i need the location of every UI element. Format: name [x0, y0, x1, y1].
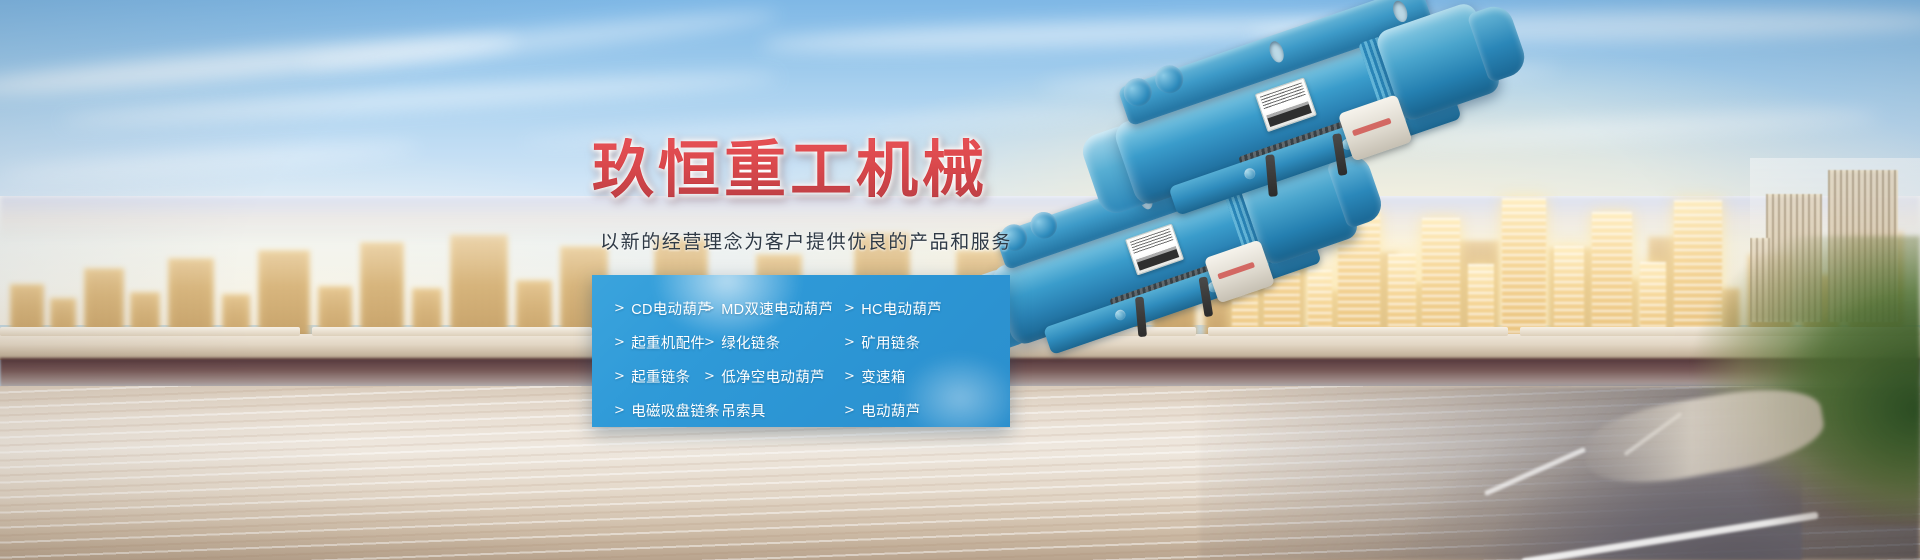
product-link-cd-hoist[interactable]: > CD电动葫芦	[592, 298, 704, 319]
product-link-slings[interactable]: > 吊索具	[704, 400, 844, 421]
product-link-md-hoist[interactable]: > MD双速电动葫芦	[704, 298, 844, 319]
chevron-right-icon: >	[704, 369, 715, 384]
product-link-electric-hoist[interactable]: > 电动葫芦	[844, 400, 994, 421]
product-link-lifting-chain[interactable]: > 起重链条	[592, 366, 704, 387]
chevron-right-icon: >	[844, 335, 855, 350]
product-row: > 起重机配件 > 绿化链条 > 矿用链条	[592, 325, 1010, 359]
chevron-right-icon: >	[614, 403, 625, 418]
chevron-right-icon: >	[614, 335, 625, 350]
chevron-right-icon: >	[704, 335, 715, 350]
product-label: 吊索具	[721, 400, 765, 421]
product-label: 起重链条	[631, 366, 690, 387]
product-label: HC电动葫芦	[861, 298, 942, 319]
product-label: 低净空电动葫芦	[721, 366, 825, 387]
product-row: > CD电动葫芦 > MD双速电动葫芦 > HC电动葫芦	[592, 291, 1010, 325]
product-link-low-headroom-hoist[interactable]: > 低净空电动葫芦	[704, 366, 844, 387]
product-link-gearbox[interactable]: > 变速箱	[844, 366, 994, 387]
chevron-right-icon: >	[614, 369, 625, 384]
product-label: 矿用链条	[861, 332, 920, 353]
chevron-right-icon: >	[844, 369, 855, 384]
chevron-right-icon: >	[844, 403, 855, 418]
product-link-hc-hoist[interactable]: > HC电动葫芦	[844, 298, 994, 319]
product-link-greening-chain[interactable]: > 绿化链条	[704, 332, 844, 353]
promo-banner: 玖恒重工机械 以新的经营理念为客户提供优良的产品和服务 > CD电动葫芦 > M…	[0, 0, 1920, 560]
chevron-right-icon: >	[614, 301, 625, 316]
product-label: 绿化链条	[721, 332, 780, 353]
product-row: > 电磁吸盘链条 > 吊索具 > 电动葫芦	[592, 393, 1010, 427]
product-label: MD双速电动葫芦	[721, 298, 833, 319]
chevron-right-icon: >	[704, 403, 715, 418]
chevron-right-icon: >	[704, 301, 715, 316]
product-row: > 起重链条 > 低净空电动葫芦 > 变速箱	[592, 359, 1010, 393]
product-label: CD电动葫芦	[631, 298, 712, 319]
product-link-magnetic-chain[interactable]: > 电磁吸盘链条	[592, 400, 704, 421]
product-list-box: > CD电动葫芦 > MD双速电动葫芦 > HC电动葫芦 > 起重机配件 > 绿…	[592, 275, 1010, 427]
product-label: 变速箱	[861, 366, 905, 387]
page-subtitle: 以新的经营理念为客户提供优良的产品和服务	[600, 227, 1012, 254]
electric-hoist-product	[1060, 60, 1620, 480]
page-title: 玖恒重工机械	[592, 138, 1012, 205]
headline-block: 玖恒重工机械 以新的经营理念为客户提供优良的产品和服务	[592, 138, 1012, 254]
product-link-mining-chain[interactable]: > 矿用链条	[844, 332, 994, 353]
product-link-crane-parts[interactable]: > 起重机配件	[592, 332, 704, 353]
chevron-right-icon: >	[844, 301, 855, 316]
product-label: 起重机配件	[631, 332, 705, 353]
product-label: 电动葫芦	[861, 400, 920, 421]
